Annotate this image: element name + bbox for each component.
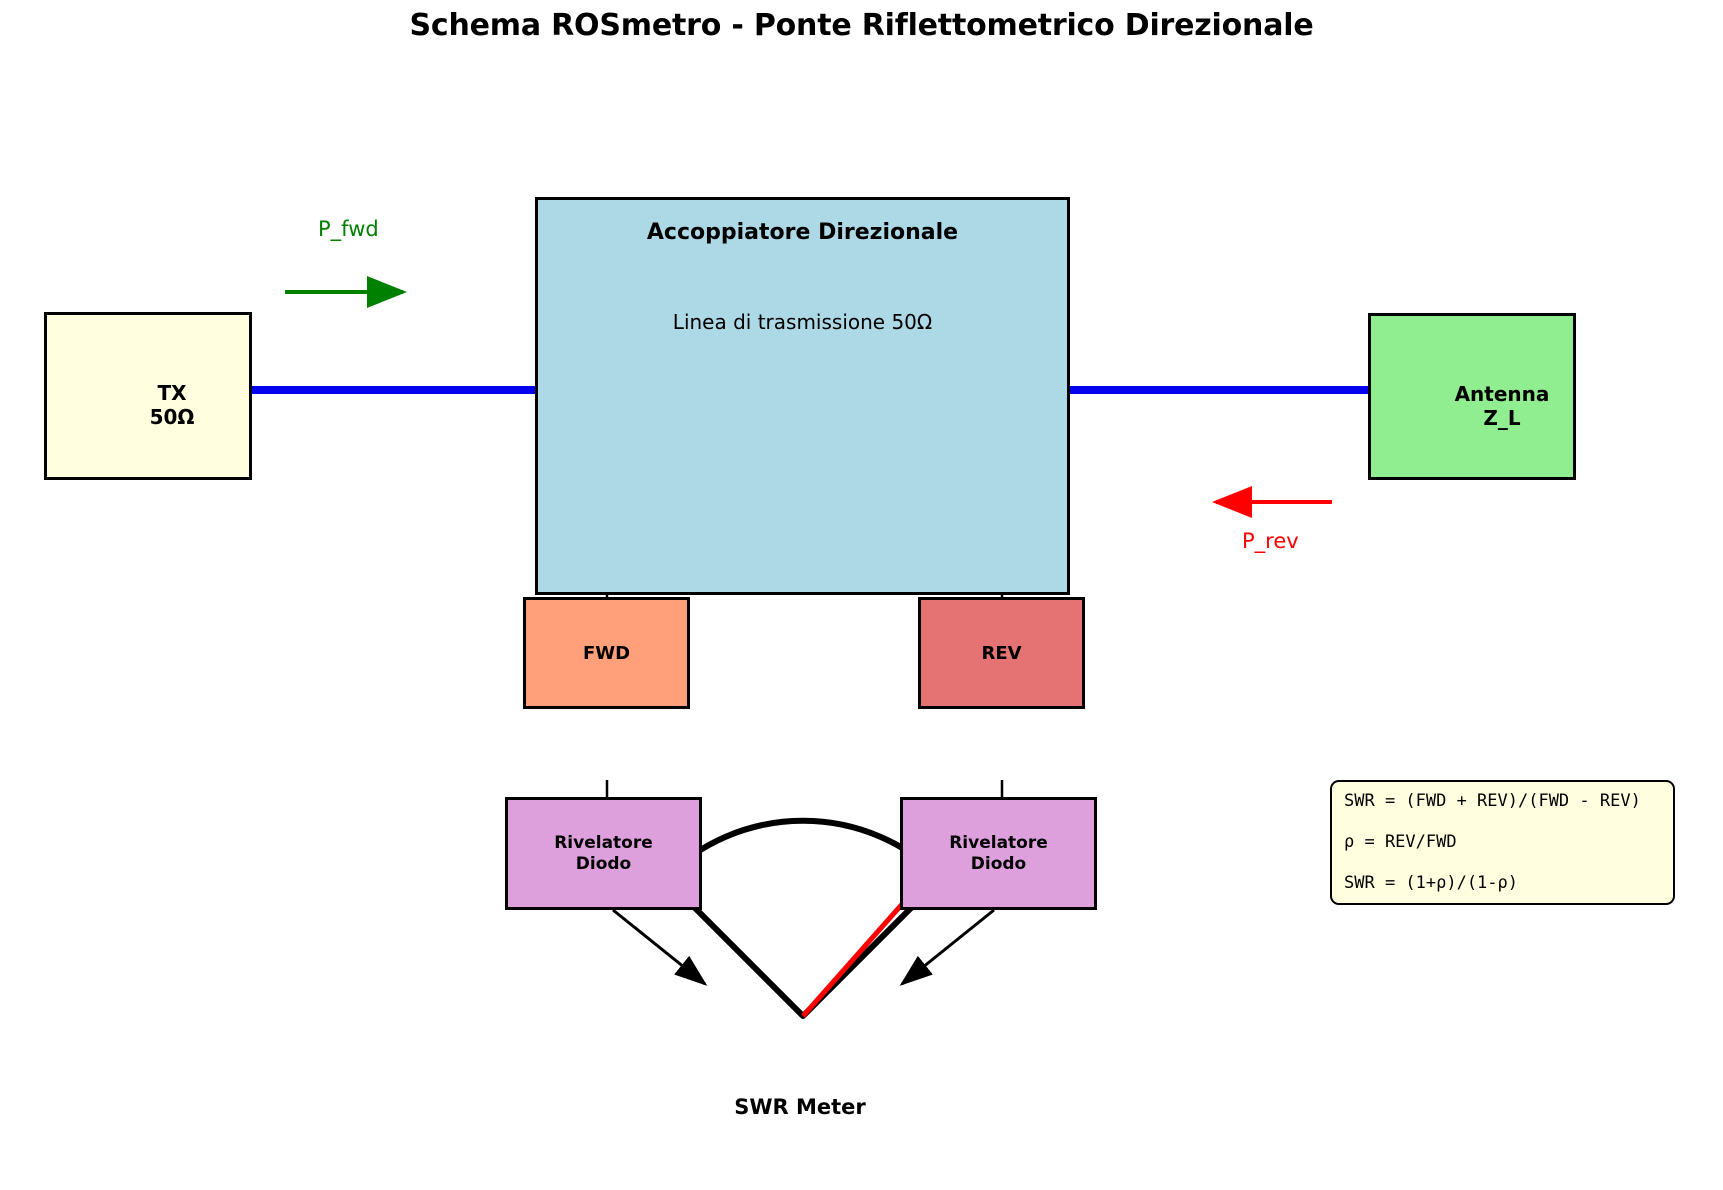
swr-meter-needle bbox=[803, 893, 912, 1016]
block-rev-label: REV bbox=[981, 643, 1021, 664]
formula-line-2: ρ = REV/FWD bbox=[1344, 833, 1663, 852]
swr-meter-caption: SWR Meter bbox=[660, 1095, 940, 1119]
block-tx[interactable]: TX 50Ω bbox=[44, 312, 252, 480]
formula-panel: SWR = (FWD + REV)/(FWD - REV) ρ = REV/FW… bbox=[1330, 780, 1675, 905]
block-detector-right[interactable]: Rivelatore Diodo bbox=[900, 797, 1097, 910]
block-tx-line2: 50Ω bbox=[150, 406, 195, 430]
diagram-canvas: Schema ROSmetro - Ponte Riflettometrico … bbox=[0, 0, 1723, 1190]
detector-left-line1: Rivelatore bbox=[554, 833, 653, 853]
block-directional-coupler[interactable]: Accoppiatore Direzionale Linea di trasmi… bbox=[535, 197, 1070, 595]
meter-left-arrow bbox=[613, 910, 705, 984]
detector-left-line2: Diodo bbox=[554, 854, 653, 874]
block-fwd-label: FWD bbox=[583, 643, 630, 664]
formula-line-3: SWR = (1+ρ)/(1-ρ) bbox=[1344, 874, 1663, 893]
block-antenna-line2: Z_L bbox=[1455, 407, 1550, 431]
block-antenna[interactable]: Antenna Z_L bbox=[1368, 313, 1576, 480]
meter-right-arrow bbox=[902, 910, 994, 984]
block-rev-port[interactable]: REV bbox=[918, 597, 1085, 709]
block-fwd-port[interactable]: FWD bbox=[523, 597, 690, 709]
detector-right-line2: Diodo bbox=[949, 854, 1048, 874]
diagram-vector-layer bbox=[0, 0, 1723, 1190]
label-p-fwd: P_fwd bbox=[318, 217, 379, 241]
block-tx-line1: TX bbox=[150, 382, 195, 406]
detector-right-line1: Rivelatore bbox=[949, 833, 1048, 853]
coupler-title: Accoppiatore Direzionale bbox=[647, 220, 958, 245]
page-title: Schema ROSmetro - Ponte Riflettometrico … bbox=[0, 8, 1723, 43]
label-p-rev: P_rev bbox=[1242, 529, 1299, 553]
block-antenna-line1: Antenna bbox=[1455, 383, 1550, 407]
formula-line-1: SWR = (FWD + REV)/(FWD - REV) bbox=[1344, 792, 1663, 811]
block-detector-left[interactable]: Rivelatore Diodo bbox=[505, 797, 702, 910]
coupler-subtitle: Linea di trasmissione 50Ω bbox=[673, 310, 932, 334]
